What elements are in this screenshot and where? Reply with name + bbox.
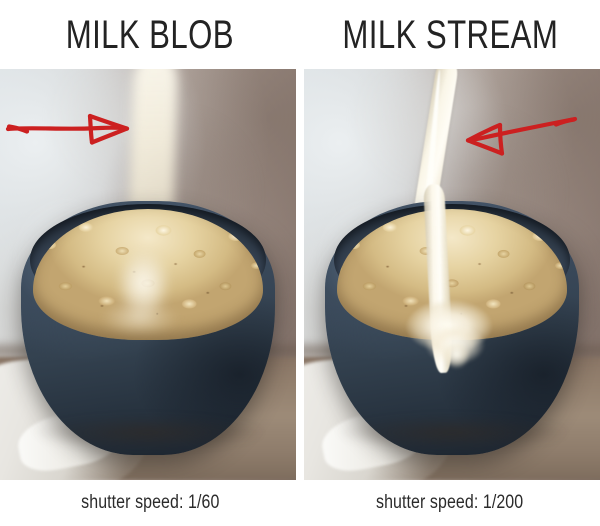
milk-drip — [443, 340, 470, 369]
title-cell-left: MILK BLOB — [0, 0, 300, 69]
bowl-inner-shadow — [335, 415, 569, 451]
bowl-inner-shadow — [31, 415, 265, 451]
caption-cell-left: shutter speed: 1/60 — [0, 480, 300, 526]
photo-left-milk-blob — [0, 69, 296, 480]
title-row: MILK BLOB MILK STREAM — [0, 0, 600, 69]
title-cell-right: MILK STREAM — [300, 0, 600, 69]
photo-row — [0, 69, 600, 480]
photo-right-milk-stream — [304, 69, 600, 480]
caption-row: shutter speed: 1/60 shutter speed: 1/200 — [0, 480, 600, 526]
comparison-infographic: MILK BLOB MILK STREAM — [0, 0, 600, 526]
panel-caption-left: shutter speed: 1/60 — [81, 492, 219, 514]
panel-caption-right: shutter speed: 1/200 — [376, 492, 523, 514]
panel-title-left: MILK BLOB — [66, 13, 234, 57]
milk-splash-soft — [101, 299, 178, 336]
caption-cell-right: shutter speed: 1/200 — [300, 480, 600, 526]
panel-title-right: MILK STREAM — [342, 13, 558, 57]
